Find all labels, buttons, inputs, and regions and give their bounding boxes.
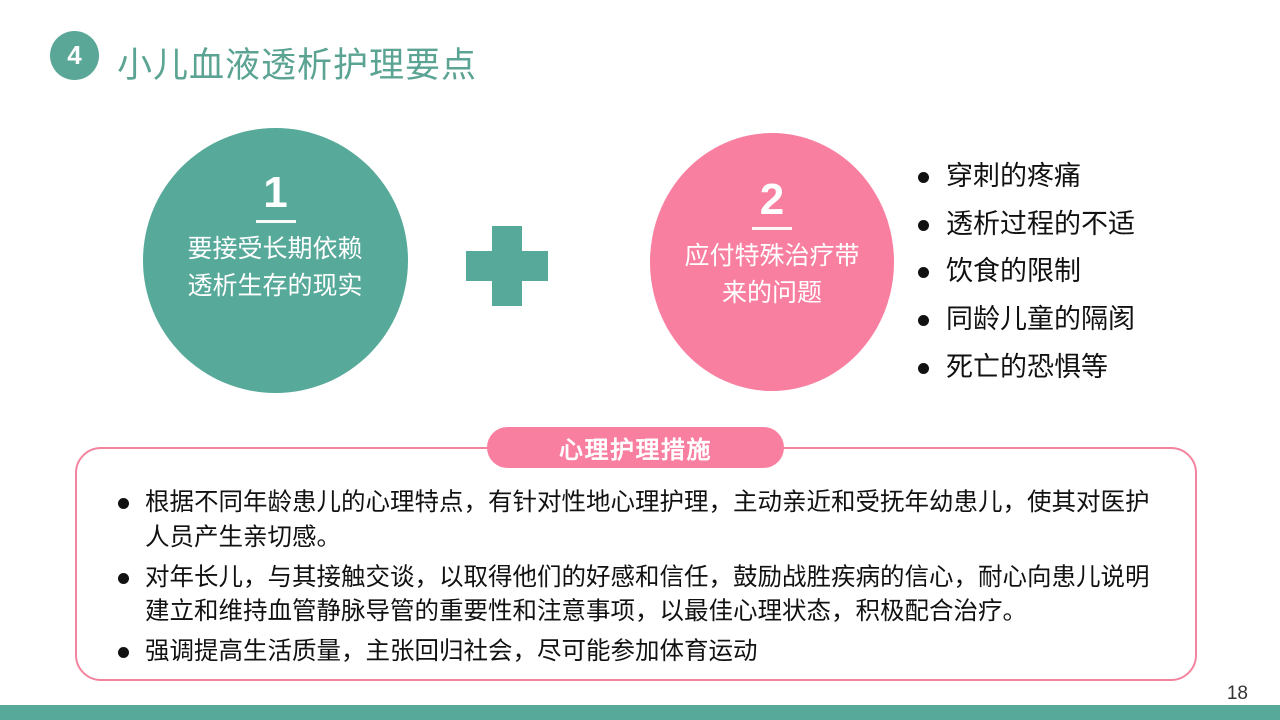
bullet-dot-icon bbox=[918, 363, 929, 374]
concept-circle-1-text: 要接受长期依赖透析生存的现实 bbox=[188, 231, 364, 304]
list-item: 死亡的恐惧等 bbox=[918, 353, 1218, 383]
bullet-dot-icon bbox=[118, 498, 129, 509]
list-item-label: 穿刺的疼痛 bbox=[946, 162, 1081, 192]
list-item: 饮食的限制 bbox=[918, 257, 1218, 287]
measures-box-title-badge: 心理护理措施 bbox=[487, 427, 784, 468]
concept-circle-1: 1 要接受长期依赖透析生存的现实 bbox=[143, 128, 408, 393]
measures-list: 根据不同年龄患儿的心理特点，有针对性地心理护理，主动亲近和受抚年幼患儿，使其对医… bbox=[118, 486, 1163, 675]
concept-circle-2-text: 应付特殊治疗带来的问题 bbox=[682, 238, 862, 311]
list-item-label: 根据不同年龄患儿的心理特点，有针对性地心理护理，主动亲近和受抚年幼患儿，使其对医… bbox=[145, 486, 1163, 556]
bullet-dot-icon bbox=[118, 573, 129, 584]
divider-rule bbox=[256, 220, 296, 223]
list-item-label: 死亡的恐惧等 bbox=[946, 353, 1108, 383]
list-item-label: 透析过程的不适 bbox=[946, 210, 1135, 240]
list-item-label: 强调提高生活质量，主张回归社会，尽可能参加体育运动 bbox=[145, 635, 758, 670]
list-item: 根据不同年龄患儿的心理特点，有针对性地心理护理，主动亲近和受抚年幼患儿，使其对医… bbox=[118, 486, 1163, 556]
slide-canvas: 4 小儿血液透析护理要点 1 要接受长期依赖透析生存的现实 2 应付特殊治疗带来… bbox=[0, 0, 1280, 720]
list-item: 穿刺的疼痛 bbox=[918, 162, 1218, 192]
problems-list: 穿刺的疼痛 透析过程的不适 饮食的限制 同龄儿童的隔阂 死亡的恐惧等 bbox=[918, 162, 1218, 382]
list-item: 对年长儿，与其接触交谈，以取得他们的好感和信任，鼓励战胜疾病的信心，耐心向患儿说… bbox=[118, 561, 1163, 631]
footer-accent-bar bbox=[0, 705, 1280, 720]
list-item-label: 饮食的限制 bbox=[946, 257, 1081, 287]
plus-icon-vertical-bar bbox=[492, 226, 522, 306]
page-number: 18 bbox=[1227, 683, 1248, 705]
bullet-dot-icon bbox=[918, 220, 929, 231]
bullet-dot-icon bbox=[918, 172, 929, 183]
plus-icon bbox=[466, 226, 548, 306]
page-title: 小儿血液透析护理要点 bbox=[117, 37, 477, 88]
concept-circle-2: 2 应付特殊治疗带来的问题 bbox=[650, 133, 894, 391]
bullet-dot-icon bbox=[918, 267, 929, 278]
bullet-dot-icon bbox=[918, 315, 929, 326]
bullet-dot-icon bbox=[118, 647, 129, 658]
divider-rule bbox=[752, 227, 792, 230]
list-item-label: 对年长儿，与其接触交谈，以取得他们的好感和信任，鼓励战胜疾病的信心，耐心向患儿说… bbox=[145, 561, 1163, 631]
list-item: 同龄儿童的隔阂 bbox=[918, 305, 1218, 335]
list-item: 透析过程的不适 bbox=[918, 210, 1218, 240]
concept-circle-1-number: 1 bbox=[263, 170, 287, 216]
section-number-badge: 4 bbox=[50, 31, 99, 80]
list-item-label: 同龄儿童的隔阂 bbox=[946, 305, 1135, 335]
concept-circle-2-number: 2 bbox=[760, 177, 784, 223]
list-item: 强调提高生活质量，主张回归社会，尽可能参加体育运动 bbox=[118, 635, 1163, 670]
